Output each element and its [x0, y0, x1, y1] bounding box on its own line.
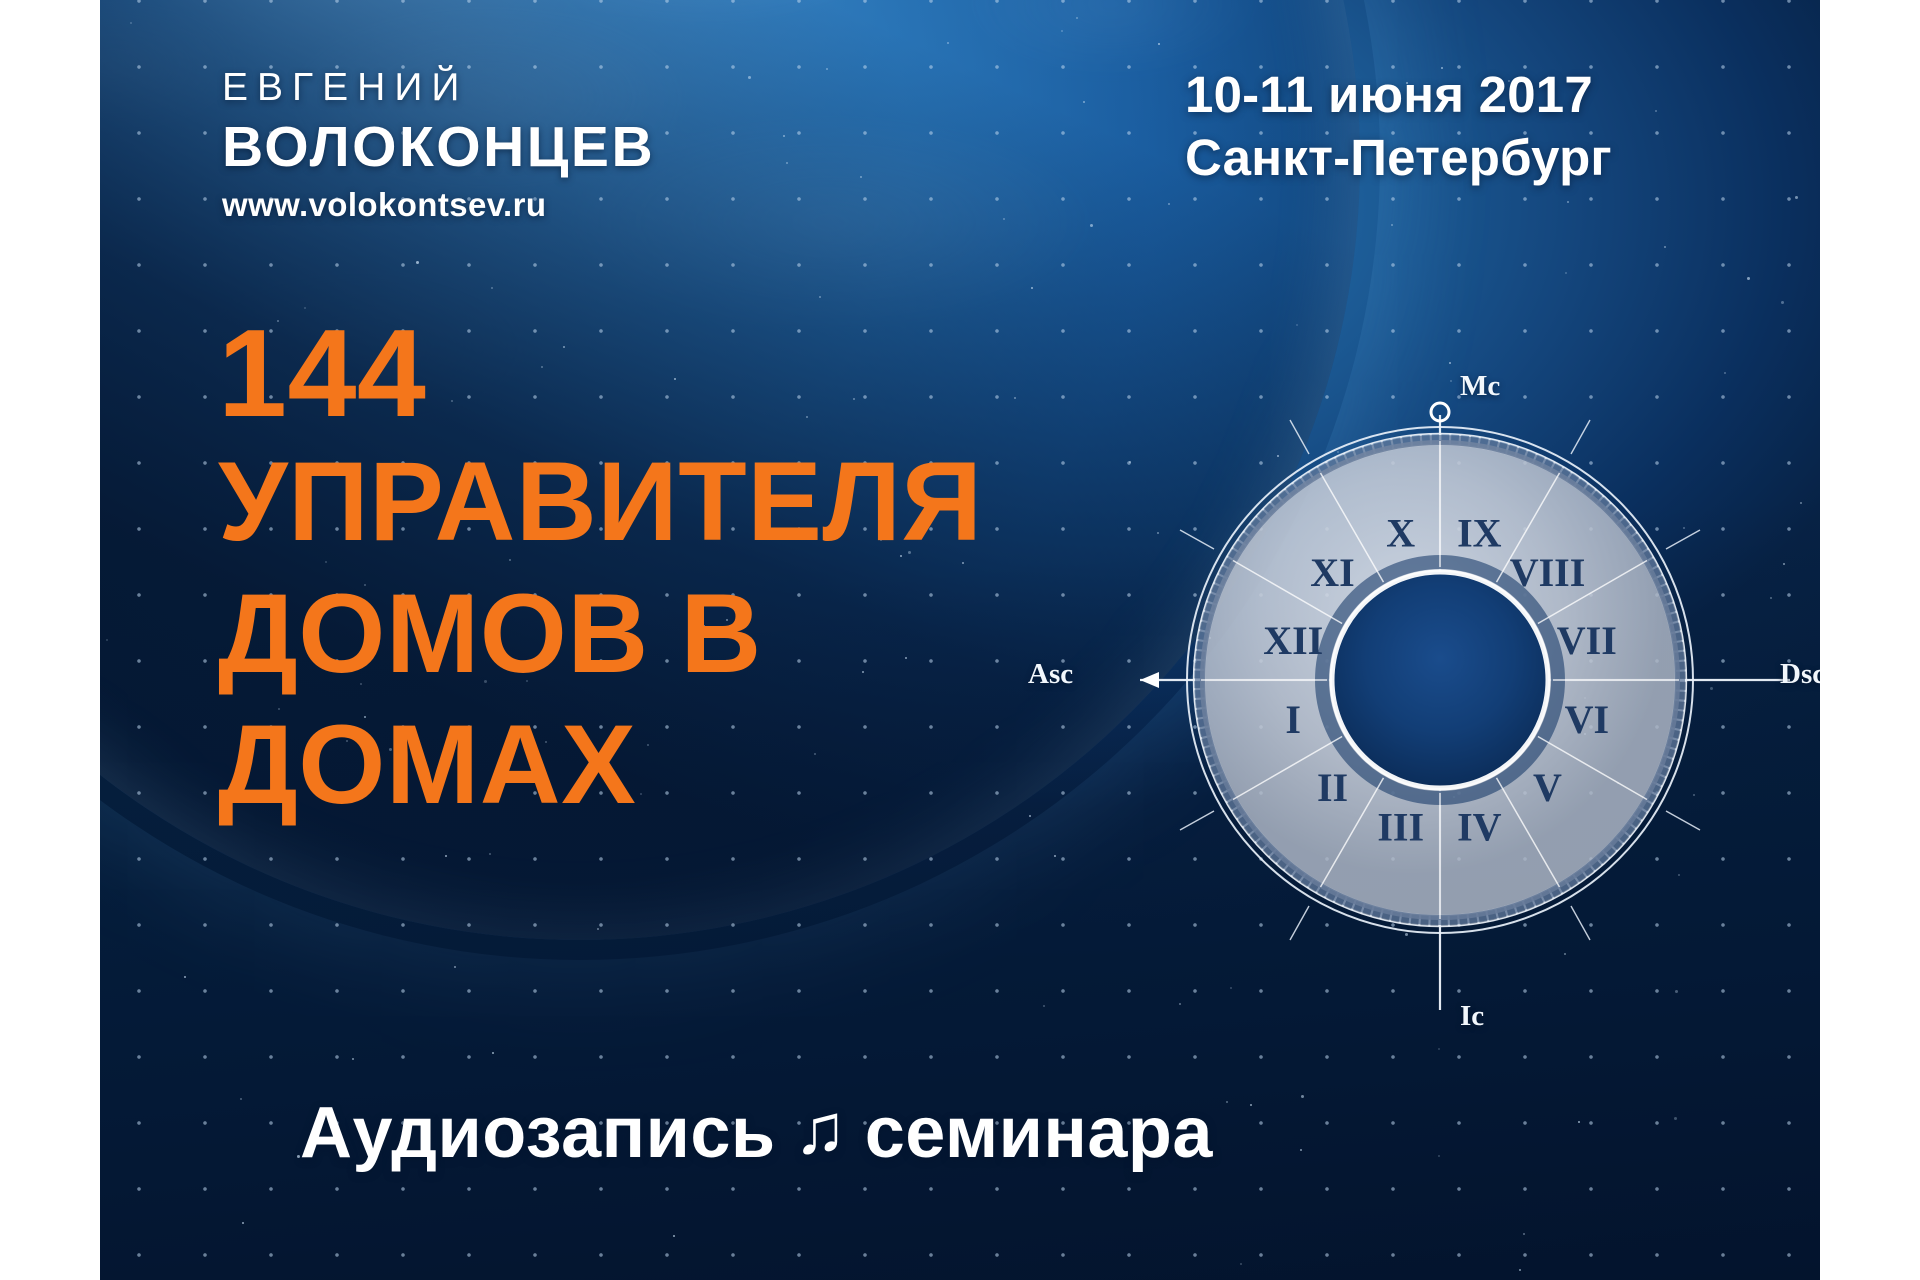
house-numeral-xii: XII	[1263, 618, 1323, 663]
house-numeral-iv: IV	[1457, 804, 1502, 849]
axis-label-ic: Ic	[1460, 1000, 1484, 1033]
speaker-last-name: ВОЛОКОНЦЕВ	[222, 116, 655, 180]
event-city: Санкт-Петербург	[1185, 129, 1612, 186]
asc-arrow-icon	[1140, 672, 1159, 688]
poster-frame: ЕВГЕНИЙ ВОЛОКОНЦЕВ www.volokontsev.ru 10…	[0, 0, 1920, 1280]
house-numeral-xi: XI	[1310, 550, 1354, 595]
speaker-block: ЕВГЕНИЙ ВОЛОКОНЦЕВ www.volokontsev.ru	[222, 68, 655, 221]
house-numeral-i: I	[1285, 697, 1301, 742]
house-numeral-viii: VIII	[1510, 550, 1586, 595]
house-numeral-iii: III	[1377, 804, 1424, 849]
axis-label-dsc: Dsc	[1780, 658, 1820, 691]
astro-wheel: IIIIIIIVVVIVIIVIIIIXXXIXII Mc Asc Dsc Ic	[1140, 380, 1800, 1070]
house-numeral-ii: II	[1317, 765, 1348, 810]
audio-recording-line: Аудиозапись ♫ семинара	[300, 1092, 1213, 1174]
event-info-block: 10-11 июня 2017 Санкт-Петербург	[1185, 66, 1612, 186]
audio-suffix-text: семинара	[865, 1092, 1213, 1174]
headline-line-2: ДОМОВ В	[218, 580, 983, 688]
house-numeral-v: V	[1533, 765, 1562, 810]
axis-label-asc: Asc	[1028, 658, 1073, 691]
headline-number: 144	[218, 315, 983, 434]
house-numeral-vii: VII	[1557, 618, 1617, 663]
music-note-icon: ♫	[794, 1094, 847, 1164]
event-date: 10-11 июня 2017	[1185, 66, 1612, 123]
audio-prefix-text: Аудиозапись	[300, 1092, 776, 1174]
speaker-first-name: ЕВГЕНИЙ	[222, 68, 655, 107]
house-numeral-vi: VI	[1565, 697, 1609, 742]
headline-block: 144 УПРАВИТЕЛЯ ДОМОВ В ДОМАХ	[218, 315, 983, 819]
poster-canvas: ЕВГЕНИЙ ВОЛОКОНЦЕВ www.volokontsev.ru 10…	[100, 0, 1820, 1280]
axis-label-mc: Mc	[1460, 370, 1500, 403]
speaker-website[interactable]: www.volokontsev.ru	[222, 188, 655, 221]
house-numeral-ix: IX	[1457, 511, 1502, 556]
house-numeral-x: X	[1386, 511, 1415, 556]
astro-wheel-graphic: IIIIIIIVVVIVIIVIIIIXXXIXII	[1140, 380, 1800, 1070]
headline-line-1: УПРАВИТЕЛЯ	[218, 448, 983, 556]
headline-line-3: ДОМАХ	[218, 711, 983, 819]
